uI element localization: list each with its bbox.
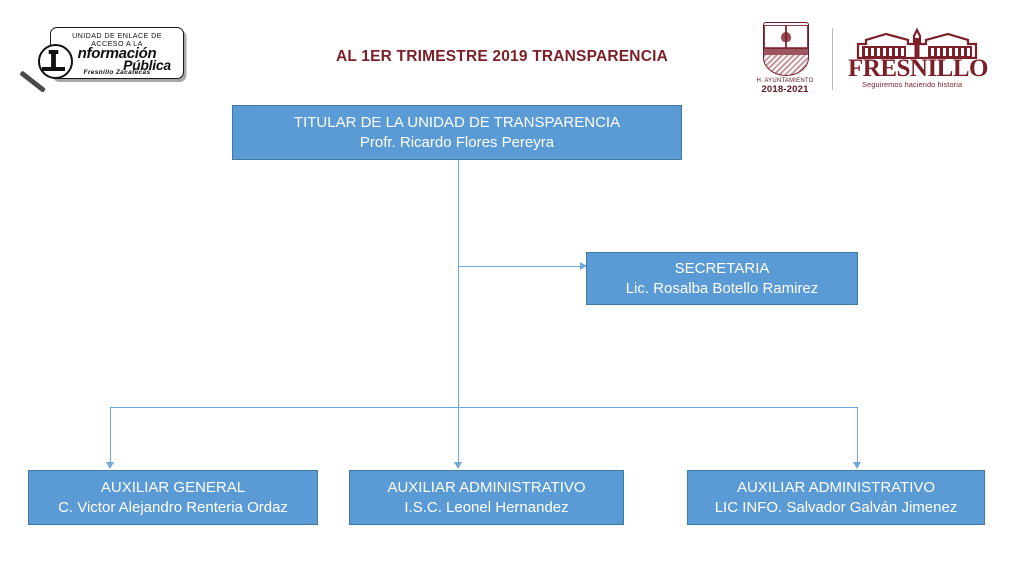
logo-divider bbox=[832, 28, 833, 90]
arrow-down-icon-auxiliar-administrativo-2 bbox=[853, 462, 861, 469]
org-node-person: Profr. Ricardo Flores Pereyra bbox=[360, 133, 554, 152]
crest-lower-field bbox=[764, 55, 808, 75]
org-node-role: AUXILIAR GENERAL bbox=[101, 478, 245, 497]
logo-line-5: Fresnillo Zacatecas bbox=[51, 70, 183, 77]
connector-drop-auxiliar-administrativo-1 bbox=[458, 407, 459, 464]
fresnillo-logo: FRESNILLO Seguiremos haciendo historia bbox=[848, 26, 988, 92]
fresnillo-wordmark: FRESNILLO bbox=[848, 56, 988, 81]
connector-drop-auxiliar-general bbox=[110, 407, 111, 464]
transparency-unit-logo: UNIDAD DE ENLACE DE ACCESO A LA nformaci… bbox=[28, 22, 188, 94]
header-logos-right: H. AYUNTAMIENTO 2018-2021 bbox=[748, 22, 992, 100]
org-node-person: C. Victor Alejandro Renteria Ordaz bbox=[58, 498, 288, 517]
fresnillo-tagline: Seguiremos haciendo historia bbox=[862, 80, 988, 89]
org-node-role: SECRETARIA bbox=[675, 259, 770, 278]
arrow-down-icon-auxiliar-general bbox=[106, 462, 114, 469]
shield-icon bbox=[763, 22, 809, 76]
org-node-person: I.S.C. Leonel Hernandez bbox=[404, 498, 568, 517]
org-node-auxiliar-general[interactable]: AUXILIAR GENERAL C. Victor Alejandro Ren… bbox=[28, 470, 318, 525]
org-node-auxiliar-administrativo-2[interactable]: AUXILIAR ADMINISTRATIVO LIC INFO. Salvad… bbox=[687, 470, 985, 525]
org-node-role: AUXILIAR ADMINISTRATIVO bbox=[387, 478, 585, 497]
magnifying-glass-base bbox=[42, 67, 65, 71]
org-node-role: AUXILIAR ADMINISTRATIVO bbox=[737, 478, 935, 497]
arrow-down-icon-auxiliar-administrativo-1 bbox=[454, 462, 462, 469]
org-node-person: LIC INFO. Salvador Galván Jimenez bbox=[715, 498, 958, 517]
org-node-role: TITULAR DE LA UNIDAD DE TRANSPARENCIA bbox=[294, 113, 620, 132]
org-node-secretaria[interactable]: SECRETARIA Lic. Rosalba Botello Ramirez bbox=[586, 252, 858, 305]
connector-level3-spine bbox=[110, 407, 858, 408]
org-node-auxiliar-administrativo-1[interactable]: AUXILIAR ADMINISTRATIVO I.S.C. Leonel He… bbox=[349, 470, 624, 525]
connector-to-secretaria bbox=[458, 266, 586, 267]
org-node-titular[interactable]: TITULAR DE LA UNIDAD DE TRANSPARENCIA Pr… bbox=[232, 105, 682, 160]
org-node-person: Lic. Rosalba Botello Ramirez bbox=[626, 279, 819, 298]
connector-drop-auxiliar-administrativo-2 bbox=[857, 407, 858, 464]
crest-caption-line-2: 2018-2021 bbox=[754, 85, 816, 95]
org-chart-page: UNIDAD DE ENLACE DE ACCESO A LA nformaci… bbox=[0, 0, 1024, 576]
municipal-crest-logo: H. AYUNTAMIENTO 2018-2021 bbox=[754, 22, 816, 100]
crest-band bbox=[764, 47, 808, 54]
page-title: AL 1ER TRIMESTRE 2019 TRANSPARENCIA bbox=[262, 48, 742, 66]
connector-titular-trunk bbox=[458, 160, 459, 407]
crest-emblem bbox=[781, 32, 791, 42]
